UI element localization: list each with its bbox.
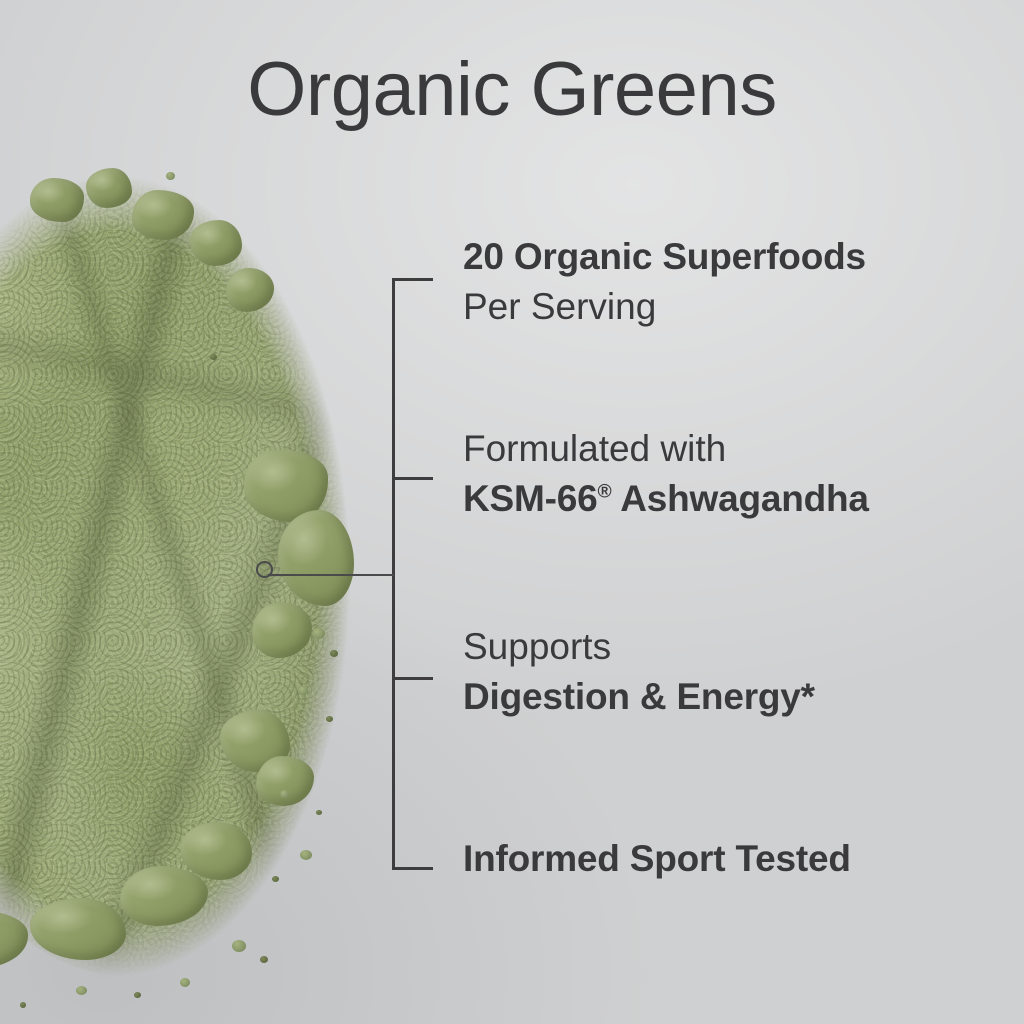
bracket-tick-1 [393,278,433,281]
feature-digestion-line2: Digestion & Energy* [463,672,1008,722]
bracket-tick-2 [393,477,433,480]
bracket-tick-3 [393,677,433,680]
powder-crumb [180,978,190,987]
feature-digestion-line1: Supports [463,622,1008,672]
feature-ksm66-ingredient: Ashwagandha [611,478,868,519]
feature-informed-sport: Informed Sport Tested [463,834,1008,884]
callout-marker-circle [256,561,273,578]
powder-crumb [142,620,150,627]
product-powder-image [0,150,390,1024]
feature-superfoods-line2: Per Serving [463,282,1008,332]
powder-crumb [166,172,175,180]
feature-superfoods-line1: 20 Organic Superfoods [463,232,1008,282]
powder-clump [30,178,84,222]
powder-crumb [300,850,312,860]
powder-crumb [298,686,308,695]
powder-crumb [210,354,217,360]
callout-leader-line [268,574,394,576]
powder-crumb [272,876,279,882]
feature-ksm66-line1: Formulated with [463,424,1008,474]
powder-crumb [232,940,246,952]
feature-digestion-energy: Supports Digestion & Energy* [463,622,1008,722]
registered-trademark-icon: ® [598,482,612,503]
feature-ksm66-line2: KSM-66® Ashwagandha [463,474,1008,524]
feature-ksm66: Formulated with KSM-66® Ashwagandha [463,424,1008,524]
bracket-tick-4 [393,867,433,870]
feature-informed-sport-line1: Informed Sport Tested [463,834,1008,884]
feature-superfoods: 20 Organic Superfoods Per Serving [463,232,1008,332]
page-title: Organic Greens [0,52,1024,128]
powder-crumb [316,810,322,815]
powder-clump [86,168,132,208]
powder-crumb [260,956,268,963]
powder-crumb [76,986,87,995]
powder-clump [190,220,242,266]
powder-crumb [134,992,141,998]
powder-crumb [312,628,325,639]
infographic-canvas: Organic Greens 20 Organic Superfoods Per… [0,0,1024,1024]
powder-crumb [280,790,289,798]
powder-crumb [20,1002,26,1008]
feature-ksm66-brand: KSM-66 [463,478,598,519]
powder-crumb [326,716,333,722]
powder-crumb [330,650,338,657]
